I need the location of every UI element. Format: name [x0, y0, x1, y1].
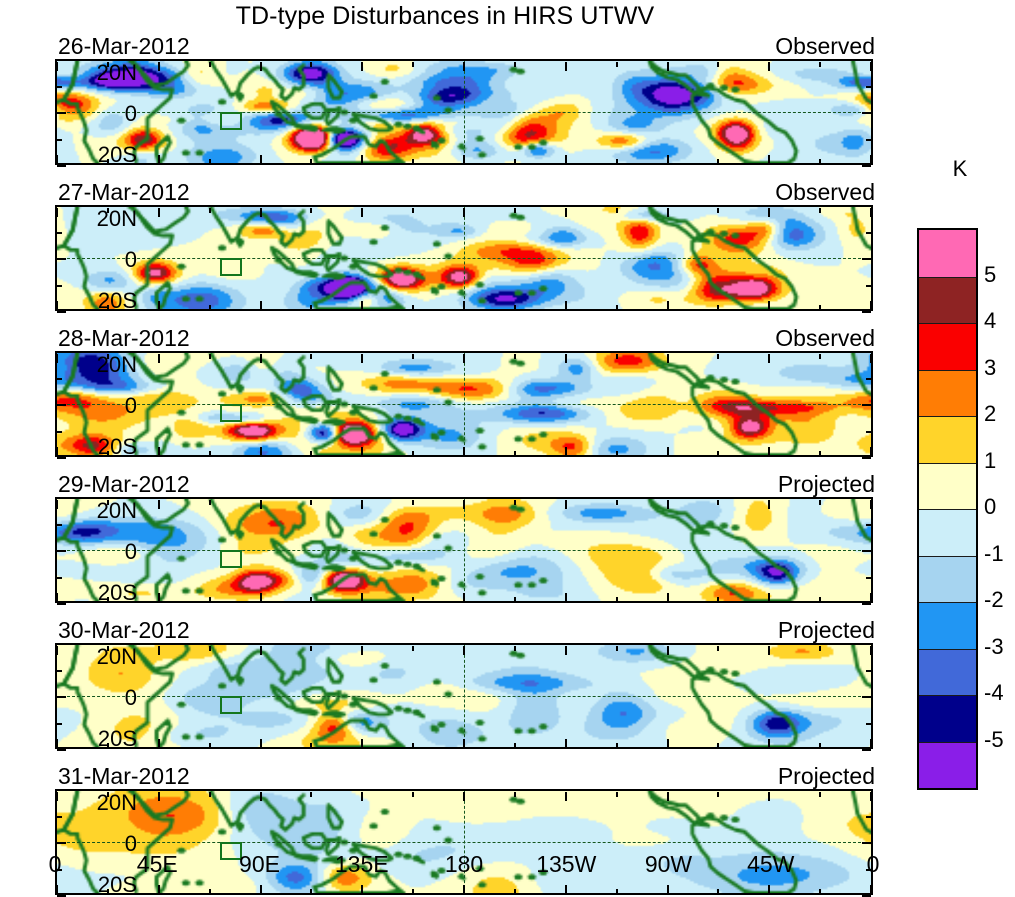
colorbar-band	[919, 463, 976, 510]
y-tick-label: 20N	[0, 500, 137, 522]
x-tick-mark	[158, 62, 160, 71]
colorbar-tick-label: 4	[984, 310, 996, 332]
x-tick-mark-minor	[107, 305, 109, 310]
x-tick-mark	[565, 301, 567, 310]
y-tick-label: 20S	[0, 874, 137, 896]
panel-date-label: 30-Mar-2012	[58, 617, 190, 643]
colorbar-band	[919, 277, 976, 324]
x-tick-mark	[768, 62, 770, 71]
x-tick-mark	[158, 447, 160, 456]
x-tick-mark-minor	[209, 354, 211, 359]
dateline-marker	[464, 207, 465, 309]
colorbar-tick-label: 2	[984, 403, 996, 425]
x-tick-mark-minor	[819, 159, 821, 164]
x-tick-mark-minor	[616, 743, 618, 748]
y-tick-mark	[862, 351, 871, 353]
x-tick-mark	[361, 500, 363, 509]
x-tick-mark-minor	[819, 305, 821, 310]
panel-date-label: 26-Mar-2012	[58, 33, 190, 59]
x-tick-mark	[260, 62, 262, 71]
colorbar-band	[919, 602, 976, 649]
x-tick-mark-minor	[616, 305, 618, 310]
y-tick-mark	[57, 351, 66, 353]
y-tick-mark	[862, 311, 871, 313]
x-tick-mark	[260, 354, 262, 363]
x-tick-mark	[361, 792, 363, 801]
x-tick-mark	[565, 792, 567, 801]
colorbar-band	[919, 509, 976, 556]
x-tick-mark	[768, 739, 770, 748]
y-tick-mark	[862, 165, 871, 167]
panel-status-label: Observed	[775, 325, 875, 351]
x-tick-label: 180	[419, 851, 509, 878]
panel-status-label: Projected	[778, 763, 875, 789]
y-tick-mark	[862, 696, 871, 698]
colorbar-tick-label: -4	[984, 682, 1004, 704]
x-tick-mark-minor	[514, 792, 516, 797]
x-tick-mark	[870, 155, 872, 164]
x-tick-mark-minor	[412, 597, 414, 602]
panel-date-label: 28-Mar-2012	[58, 325, 190, 351]
x-tick-mark	[667, 792, 669, 801]
x-tick-mark	[56, 739, 58, 748]
x-tick-mark	[768, 447, 770, 456]
x-tick-mark-minor	[209, 500, 211, 505]
x-tick-mark	[56, 62, 58, 71]
x-tick-mark-minor	[209, 305, 211, 310]
x-tick-mark	[667, 301, 669, 310]
y-tick-mark	[57, 165, 66, 167]
x-tick-mark	[56, 593, 58, 602]
colorbar-band	[919, 742, 976, 789]
colorbar-unit-label: K	[930, 156, 990, 182]
y-tick-mark	[57, 643, 66, 645]
colorbar-band	[919, 230, 976, 277]
x-tick-mark-minor	[412, 451, 414, 456]
x-tick-mark-minor	[514, 743, 516, 748]
panel-header: 30-Mar-2012Projected	[55, 617, 875, 643]
x-tick-mark-minor	[717, 646, 719, 651]
y-tick-mark	[862, 497, 871, 499]
page-title: TD-type Disturbances in HIRS UTWV	[0, 2, 890, 31]
panel-header: 31-Mar-2012Projected	[55, 763, 875, 789]
y-tick-label: 20S	[0, 144, 137, 166]
x-tick-mark-minor	[310, 305, 312, 310]
x-tick-mark	[463, 792, 465, 801]
x-axis: 045E90E135E180135W90W45W0	[55, 845, 873, 885]
x-tick-mark	[870, 447, 872, 456]
x-tick-mark	[361, 62, 363, 71]
x-tick-mark-minor	[514, 62, 516, 67]
x-tick-mark	[56, 792, 58, 801]
dateline-marker	[464, 61, 465, 163]
colorbar-band	[919, 323, 976, 370]
x-tick-mark	[768, 500, 770, 509]
study-region-box	[220, 696, 242, 714]
x-tick-mark-minor	[717, 305, 719, 310]
y-tick-mark-minor	[866, 577, 871, 579]
panel-header: 26-Mar-2012Observed	[55, 33, 875, 59]
dateline-marker	[464, 499, 465, 601]
y-tick-mark-minor	[57, 431, 62, 433]
x-tick-mark	[565, 500, 567, 509]
y-tick-mark	[57, 112, 66, 114]
x-tick-mark-minor	[819, 597, 821, 602]
study-region-box	[220, 550, 242, 568]
x-tick-mark	[56, 155, 58, 164]
panel-plot-area	[55, 497, 875, 603]
x-tick-mark	[56, 301, 58, 310]
x-tick-mark	[361, 155, 363, 164]
y-tick-mark	[862, 205, 871, 207]
x-tick-mark	[361, 301, 363, 310]
y-tick-mark-minor	[866, 86, 871, 88]
y-tick-mark	[57, 696, 66, 698]
x-tick-mark	[463, 354, 465, 363]
x-tick-label: 90W	[624, 851, 714, 878]
y-tick-mark-minor	[866, 723, 871, 725]
x-tick-mark-minor	[310, 159, 312, 164]
x-tick-mark-minor	[717, 159, 719, 164]
y-tick-mark-minor	[866, 869, 871, 871]
x-tick-mark	[667, 155, 669, 164]
x-tick-mark	[565, 354, 567, 363]
panel-header: 27-Mar-2012Observed	[55, 179, 875, 205]
x-tick-mark-minor	[107, 354, 109, 359]
panel-header: 28-Mar-2012Observed	[55, 325, 875, 351]
x-tick-mark-minor	[717, 743, 719, 748]
x-tick-mark	[463, 646, 465, 655]
x-tick-mark-minor	[107, 792, 109, 797]
y-tick-mark	[57, 404, 66, 406]
x-tick-mark	[361, 208, 363, 217]
y-tick-label: 0	[0, 833, 137, 855]
x-tick-mark	[260, 155, 262, 164]
colorbar-band	[919, 556, 976, 603]
y-tick-mark-minor	[866, 816, 871, 818]
panel-status-label: Observed	[775, 33, 875, 59]
y-tick-mark-minor	[866, 232, 871, 234]
y-tick-mark-minor	[57, 232, 62, 234]
colorbar-band	[919, 370, 976, 417]
x-tick-mark-minor	[717, 354, 719, 359]
figure-canvas: TD-type Disturbances in HIRS UTWV 26-Mar…	[0, 0, 1015, 890]
x-tick-mark	[260, 593, 262, 602]
x-tick-mark-minor	[616, 646, 618, 651]
y-tick-mark	[862, 59, 871, 61]
x-tick-mark	[565, 62, 567, 71]
x-tick-mark	[158, 354, 160, 363]
x-tick-label: 0	[828, 851, 918, 878]
panel-status-label: Projected	[778, 617, 875, 643]
x-tick-mark	[463, 593, 465, 602]
x-tick-mark-minor	[412, 305, 414, 310]
x-tick-mark	[158, 301, 160, 310]
colorbar-tick-labels: 543210-1-2-3-4-5	[984, 228, 1015, 790]
x-tick-mark-minor	[616, 208, 618, 213]
x-tick-mark-minor	[107, 159, 109, 164]
panel-plot-area	[55, 351, 875, 457]
y-tick-mark-minor	[57, 86, 62, 88]
y-tick-mark	[862, 112, 871, 114]
x-tick-mark	[870, 62, 872, 71]
y-tick-mark	[57, 550, 66, 552]
x-tick-mark-minor	[107, 208, 109, 213]
x-tick-mark	[870, 301, 872, 310]
x-tick-mark-minor	[310, 354, 312, 359]
y-tick-mark-minor	[866, 524, 871, 526]
x-tick-mark-minor	[107, 500, 109, 505]
x-tick-mark	[565, 208, 567, 217]
x-tick-mark-minor	[514, 597, 516, 602]
x-tick-mark-minor	[209, 792, 211, 797]
x-tick-mark	[158, 155, 160, 164]
x-tick-mark-minor	[616, 597, 618, 602]
dateline-marker	[464, 353, 465, 455]
y-tick-mark	[57, 311, 66, 313]
x-tick-mark	[870, 593, 872, 602]
x-tick-mark-minor	[717, 451, 719, 456]
colorbar-tick-label: 3	[984, 357, 996, 379]
y-tick-label: 20N	[0, 62, 137, 84]
x-tick-mark	[463, 500, 465, 509]
x-tick-mark-minor	[209, 208, 211, 213]
x-tick-mark-minor	[412, 159, 414, 164]
y-tick-mark-minor	[57, 285, 62, 287]
x-tick-mark	[667, 447, 669, 456]
x-tick-mark	[870, 739, 872, 748]
x-tick-mark-minor	[209, 743, 211, 748]
x-tick-mark	[260, 301, 262, 310]
y-tick-label: 0	[0, 249, 137, 271]
x-tick-mark-minor	[514, 208, 516, 213]
x-tick-mark-minor	[514, 646, 516, 651]
x-tick-mark	[260, 792, 262, 801]
x-tick-mark-minor	[412, 500, 414, 505]
x-tick-mark	[768, 354, 770, 363]
x-tick-mark-minor	[310, 208, 312, 213]
x-tick-mark-minor	[514, 305, 516, 310]
x-tick-mark	[768, 593, 770, 602]
x-tick-mark	[361, 646, 363, 655]
x-tick-mark	[870, 208, 872, 217]
x-tick-mark	[463, 62, 465, 71]
x-tick-mark	[768, 792, 770, 801]
y-tick-label: 20S	[0, 290, 137, 312]
panel-date-label: 31-Mar-2012	[58, 763, 190, 789]
x-tick-mark-minor	[209, 62, 211, 67]
x-tick-mark-minor	[310, 743, 312, 748]
x-tick-mark-minor	[107, 62, 109, 67]
x-tick-mark	[158, 208, 160, 217]
x-tick-mark	[565, 593, 567, 602]
y-tick-mark-minor	[866, 670, 871, 672]
panel-plot-area	[55, 59, 875, 165]
x-tick-label: 135E	[317, 851, 407, 878]
panel-date-label: 29-Mar-2012	[58, 471, 190, 497]
y-tick-label: 0	[0, 103, 137, 125]
y-tick-mark	[57, 497, 66, 499]
x-tick-mark	[768, 155, 770, 164]
y-tick-mark	[57, 749, 66, 751]
x-tick-mark	[870, 792, 872, 801]
y-tick-label: 0	[0, 687, 137, 709]
study-region-box	[220, 404, 242, 422]
x-tick-mark-minor	[616, 500, 618, 505]
x-tick-label: 45W	[726, 851, 816, 878]
y-tick-mark	[57, 789, 66, 791]
x-tick-mark	[158, 593, 160, 602]
x-tick-mark	[463, 447, 465, 456]
colorbar-band	[919, 416, 976, 463]
x-tick-mark	[667, 62, 669, 71]
y-tick-mark-minor	[866, 285, 871, 287]
x-tick-mark	[260, 208, 262, 217]
x-tick-mark-minor	[616, 62, 618, 67]
y-tick-label: 20N	[0, 792, 137, 814]
x-tick-mark	[361, 593, 363, 602]
y-tick-label: 20N	[0, 354, 137, 376]
x-tick-mark-minor	[310, 62, 312, 67]
x-tick-mark-minor	[107, 646, 109, 651]
x-tick-mark	[667, 593, 669, 602]
x-tick-mark	[667, 500, 669, 509]
x-tick-mark	[463, 208, 465, 217]
x-tick-mark-minor	[412, 62, 414, 67]
y-tick-label: 0	[0, 541, 137, 563]
x-tick-mark-minor	[616, 159, 618, 164]
x-tick-mark-minor	[819, 62, 821, 67]
panel-plot-area	[55, 205, 875, 311]
x-tick-mark	[361, 354, 363, 363]
y-tick-mark	[862, 457, 871, 459]
y-tick-mark-minor	[57, 723, 62, 725]
y-tick-label: 0	[0, 395, 137, 417]
study-region-box	[220, 112, 242, 130]
x-tick-mark-minor	[310, 792, 312, 797]
x-tick-mark-minor	[209, 451, 211, 456]
x-tick-mark-minor	[412, 646, 414, 651]
panel-header: 29-Mar-2012Projected	[55, 471, 875, 497]
y-tick-mark-minor	[57, 524, 62, 526]
y-tick-mark-minor	[866, 431, 871, 433]
y-tick-mark	[57, 842, 66, 844]
y-tick-mark-minor	[57, 816, 62, 818]
y-tick-mark-minor	[866, 378, 871, 380]
x-tick-mark-minor	[819, 743, 821, 748]
y-tick-label: 20S	[0, 728, 137, 750]
y-tick-mark	[57, 603, 66, 605]
x-tick-mark	[870, 500, 872, 509]
x-tick-mark	[667, 208, 669, 217]
x-tick-mark	[56, 208, 58, 217]
x-tick-mark-minor	[412, 208, 414, 213]
x-tick-mark-minor	[107, 743, 109, 748]
y-tick-mark	[862, 258, 871, 260]
colorbar-tick-label: -1	[984, 543, 1004, 565]
anomaly-heatmap	[55, 351, 873, 457]
x-tick-mark	[56, 646, 58, 655]
colorbar-tick-label: 1	[984, 450, 996, 472]
x-tick-mark	[768, 646, 770, 655]
x-tick-mark	[565, 739, 567, 748]
x-tick-mark-minor	[616, 354, 618, 359]
panel-date-label: 27-Mar-2012	[58, 179, 190, 205]
x-tick-mark-minor	[819, 500, 821, 505]
x-tick-mark	[158, 739, 160, 748]
x-tick-mark	[768, 208, 770, 217]
y-tick-mark-minor	[57, 869, 62, 871]
x-tick-mark	[260, 739, 262, 748]
x-tick-mark	[361, 739, 363, 748]
y-tick-label: 20N	[0, 208, 137, 230]
y-tick-mark	[862, 842, 871, 844]
y-tick-mark	[862, 404, 871, 406]
y-tick-mark-minor	[57, 670, 62, 672]
x-tick-mark-minor	[717, 500, 719, 505]
colorbar	[917, 228, 978, 790]
x-tick-mark-minor	[107, 597, 109, 602]
x-tick-mark-minor	[209, 159, 211, 164]
y-tick-mark	[862, 603, 871, 605]
x-tick-mark	[158, 646, 160, 655]
x-tick-mark-minor	[819, 646, 821, 651]
anomaly-heatmap	[55, 497, 873, 603]
y-tick-mark-minor	[866, 139, 871, 141]
colorbar-band	[919, 649, 976, 696]
x-tick-label: 135W	[521, 851, 611, 878]
x-tick-mark-minor	[310, 451, 312, 456]
y-tick-mark	[57, 258, 66, 260]
y-tick-label: 20N	[0, 646, 137, 668]
colorbar-tick-label: -2	[984, 589, 1004, 611]
x-tick-mark	[56, 354, 58, 363]
x-tick-mark	[667, 354, 669, 363]
x-tick-mark	[565, 646, 567, 655]
x-tick-mark	[260, 447, 262, 456]
y-tick-mark	[57, 59, 66, 61]
x-tick-mark-minor	[107, 451, 109, 456]
x-tick-mark-minor	[412, 354, 414, 359]
x-tick-mark	[565, 447, 567, 456]
y-tick-mark	[862, 749, 871, 751]
x-tick-label: 90E	[215, 851, 305, 878]
panel-status-label: Observed	[775, 179, 875, 205]
x-tick-mark-minor	[717, 597, 719, 602]
y-tick-mark	[862, 643, 871, 645]
anomaly-heatmap	[55, 205, 873, 311]
x-tick-mark	[463, 155, 465, 164]
x-tick-mark-minor	[819, 354, 821, 359]
x-tick-mark	[667, 739, 669, 748]
x-tick-mark	[768, 301, 770, 310]
x-tick-mark	[260, 646, 262, 655]
x-tick-mark	[870, 646, 872, 655]
x-tick-mark-minor	[209, 646, 211, 651]
x-tick-mark	[158, 500, 160, 509]
x-tick-mark	[463, 739, 465, 748]
y-tick-label: 20S	[0, 436, 137, 458]
x-tick-mark-minor	[412, 792, 414, 797]
colorbar-tick-label: -5	[984, 729, 1004, 751]
x-tick-mark-minor	[209, 597, 211, 602]
colorbar-tick-label: 5	[984, 264, 996, 286]
y-tick-mark-minor	[57, 139, 62, 141]
x-tick-mark-minor	[514, 500, 516, 505]
x-tick-mark	[870, 354, 872, 363]
y-tick-mark	[57, 205, 66, 207]
y-tick-mark-minor	[57, 577, 62, 579]
